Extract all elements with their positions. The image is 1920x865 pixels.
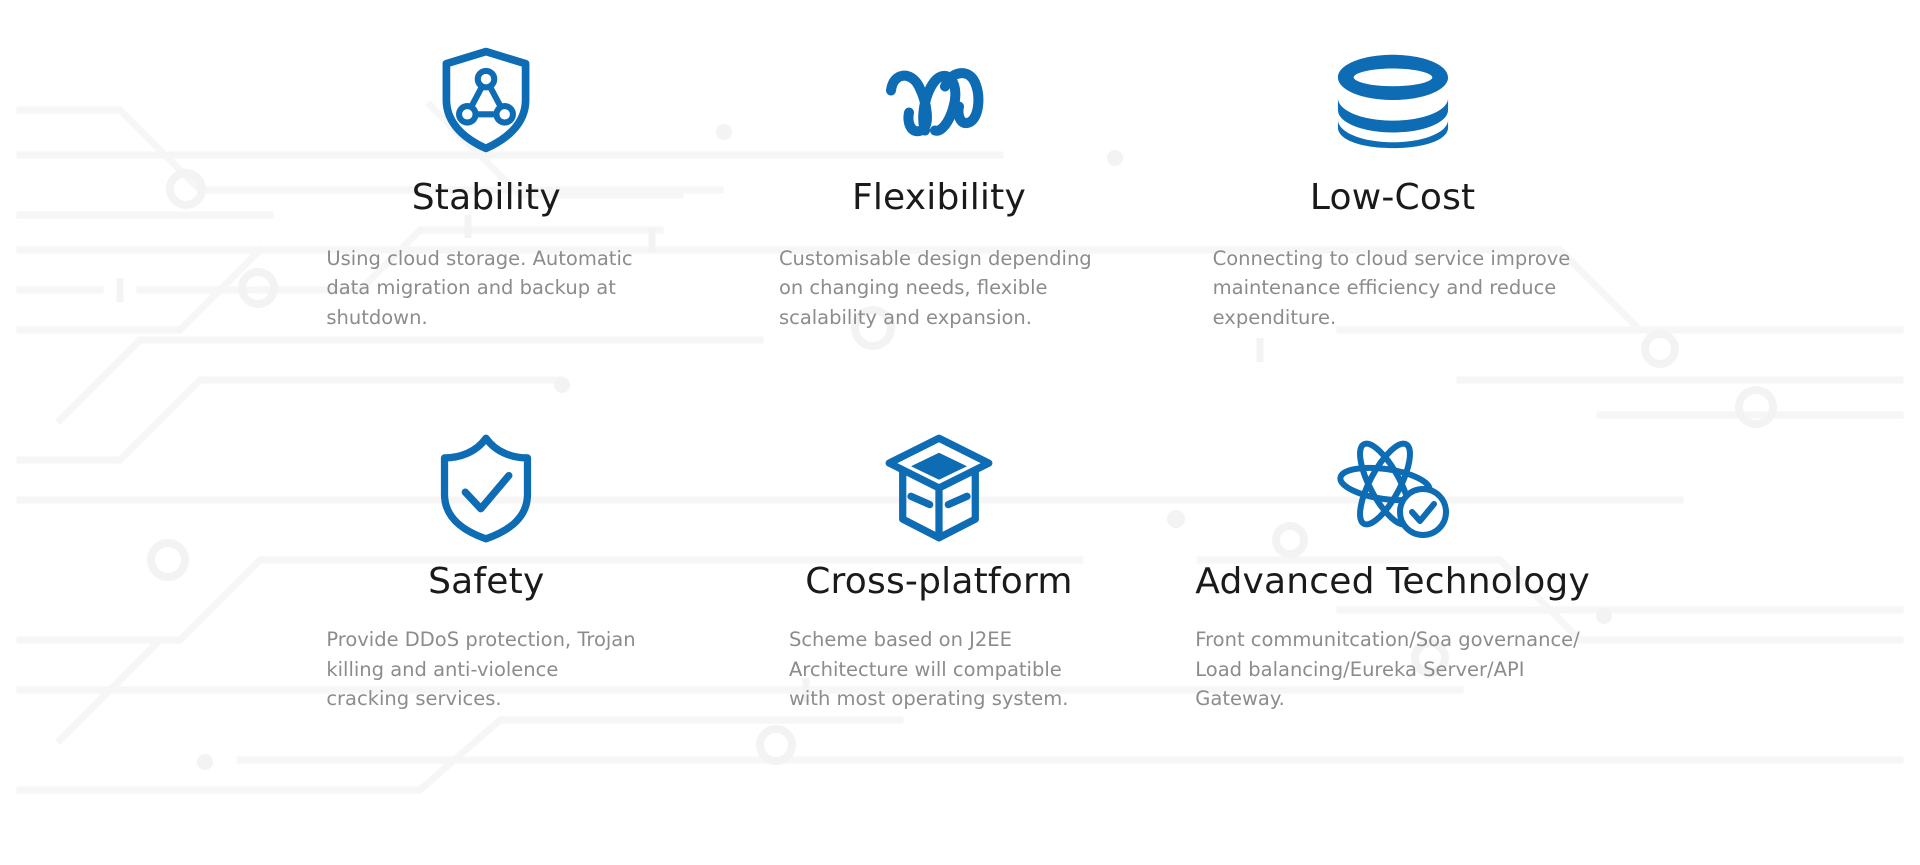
- feature-title: Advanced Technology: [1195, 562, 1590, 602]
- feature-title: Flexibility: [852, 178, 1026, 218]
- feature-card-flexibility: Flexibility Customisable design dependin…: [713, 40, 1166, 428]
- feature-title: Stability: [412, 178, 561, 218]
- feature-title: Cross-platform: [805, 562, 1072, 602]
- feature-card-low-cost: Low-Cost Connecting to cloud service imp…: [1165, 40, 1620, 428]
- feature-title: Safety: [428, 562, 544, 602]
- feature-description: Provide DDoS protection, Trojan killing …: [326, 625, 646, 714]
- features-grid: Stability Using cloud storage. Automatic…: [0, 0, 1920, 865]
- flexible-ribbon-icon: [879, 40, 999, 160]
- feature-card-stability: Stability Using cloud storage. Automatic…: [260, 40, 713, 428]
- feature-card-safety: Safety Provide DDoS protection, Trojan k…: [260, 428, 713, 816]
- atom-check-icon: [1333, 428, 1453, 548]
- feature-description: Front communitcation/Soa governance/ Loa…: [1195, 625, 1590, 714]
- feature-description: Customisable design depending on changin…: [779, 244, 1099, 333]
- shield-network-icon: [426, 40, 546, 160]
- feature-description: Using cloud storage. Automatic data migr…: [326, 244, 646, 333]
- shield-check-icon: [426, 428, 546, 548]
- database-stack-icon: [1333, 40, 1453, 160]
- feature-card-cross-platform: Cross-platform Scheme based on J2EE Arch…: [713, 428, 1166, 816]
- feature-title: Low-Cost: [1310, 178, 1476, 218]
- feature-description: Connecting to cloud service improve main…: [1213, 244, 1573, 333]
- isometric-cube-icon: [879, 428, 999, 548]
- feature-description: Scheme based on J2EE Architecture will c…: [789, 625, 1089, 714]
- feature-card-advanced-technology: Advanced Technology Front communitcation…: [1165, 428, 1620, 816]
